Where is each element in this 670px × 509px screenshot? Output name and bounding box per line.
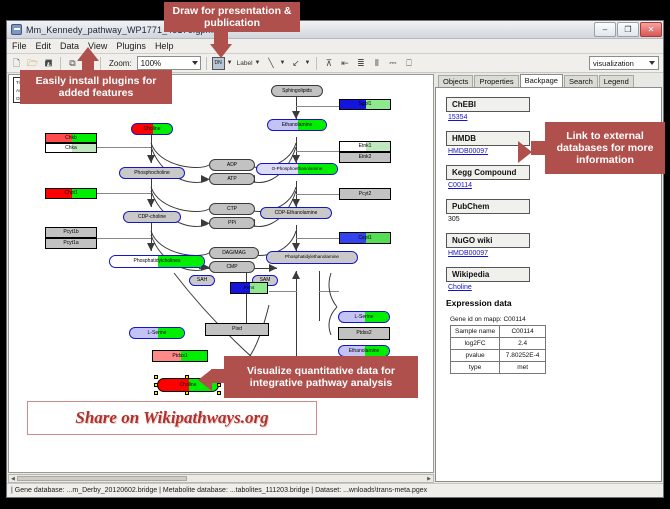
pathway-canvas-wrapper[interactable]: Title: Availa Organi — [8, 74, 434, 473]
tab-search[interactable]: Search — [564, 75, 598, 87]
gene-sgpl1-label: Sgpl1 — [359, 102, 372, 107]
node-ethanolamine-label: Ethanolamine — [282, 123, 313, 128]
tab-properties[interactable]: Properties — [474, 75, 518, 87]
selection-handle-s[interactable] — [185, 391, 189, 395]
expression-data-table: Sample name C00114 log2FC 2.4 pvalue 7.8… — [450, 325, 546, 374]
chevron-down-icon[interactable] — [192, 61, 198, 65]
toolbar-separator-4 — [316, 57, 317, 70]
selection-handle-e[interactable] — [217, 383, 221, 387]
expr-row-label-3: type — [451, 362, 500, 374]
edge-sphingo-ethanolamine — [296, 97, 297, 119]
db-value-wikipedia[interactable]: Choline — [448, 284, 653, 291]
node-o-phosphoethanolamine[interactable]: O-Phosphoethanolamine — [256, 163, 338, 175]
tab-objects[interactable]: Objects — [438, 75, 473, 87]
open-folder-icon[interactable]: 🗁 — [26, 57, 39, 70]
node-ctp[interactable]: CTP — [209, 203, 255, 215]
node-cdp-choline[interactable]: CDP-choline — [123, 211, 181, 223]
db-header-pubchem: PubChem — [446, 199, 530, 214]
gene-sgpl1[interactable]: Sgpl1 — [339, 99, 391, 110]
table-row: log2FC 2.4 — [451, 338, 546, 350]
gene-pemt-label: Pemt — [244, 286, 255, 291]
new-document-icon[interactable]: 🗋 — [10, 57, 23, 70]
toolbar-separator-3 — [206, 57, 207, 70]
node-ethanolamine[interactable]: Ethanolamine — [267, 119, 327, 131]
node-ethanolamine-right-label: Ethanolamine — [349, 349, 380, 354]
node-atp[interactable]: ATP — [209, 173, 255, 185]
menu-help[interactable]: Help — [155, 41, 174, 51]
scrollbar-thumb[interactable] — [17, 476, 187, 481]
expression-data-heading: Expression data — [446, 298, 653, 308]
callout-links-arrow-icon — [518, 141, 532, 163]
node-choline-top-label: Choline — [144, 127, 161, 132]
selection-handle-sw[interactable] — [154, 391, 158, 395]
node-l-serine-left[interactable]: L-Serine — [129, 327, 185, 339]
line-dropdown-icon[interactable]: ▼ — [279, 60, 285, 66]
node-choline-top[interactable]: Choline — [131, 123, 173, 135]
db-value-kegg-compound[interactable]: C00114 — [448, 182, 653, 189]
node-ophospho-label: O-Phosphoethanolamine — [272, 167, 323, 172]
gene-cept1-label: Cept1 — [358, 236, 371, 241]
callout-link-external-databases: Link to external databases for more info… — [545, 122, 665, 174]
interaction-dropdown-icon[interactable]: ▼ — [304, 60, 310, 66]
visualization-value: visualization — [593, 59, 634, 68]
visualization-combo[interactable]: visualization — [589, 56, 659, 70]
datanode-icon[interactable]: DN — [212, 57, 225, 70]
db-header-chebi: ChEBI — [446, 97, 530, 112]
statusbar-text: | Gene database: ...m_Derby_20120602.bri… — [11, 487, 427, 494]
selection-handle-n[interactable] — [185, 375, 189, 379]
toolbar-separator-2 — [100, 57, 101, 70]
zoom-combo[interactable]: 100% — [137, 56, 201, 70]
editor-pane: Title: Availa Organi — [7, 73, 435, 483]
app-icon — [11, 24, 22, 35]
edge-cdpcholine-ptdcholine — [151, 223, 152, 251]
node-lserine-left-label: L-Serine — [148, 331, 167, 336]
menu-edit[interactable]: Edit — [36, 41, 52, 51]
edge-ptdetn-down — [296, 271, 297, 361]
node-ppi[interactable]: PPi — [209, 217, 255, 229]
node-dagmag[interactable]: DAG/MAG — [209, 247, 259, 259]
edge-chk-to-path — [97, 147, 151, 148]
scroll-left-arrow-icon[interactable]: ◀ — [11, 476, 15, 482]
db-value-pubchem: 305 — [448, 216, 653, 223]
gene-pemt[interactable]: Pemt — [230, 282, 268, 294]
gene-chpt1-label: Chpt1 — [64, 191, 77, 196]
line-tool-icon[interactable]: ╲ — [264, 57, 277, 70]
edge-chpt1-to-path — [97, 193, 151, 194]
gene-chpt1[interactable]: Chpt1 — [45, 188, 97, 199]
gene-etnk2[interactable]: Etnk2 — [339, 152, 391, 163]
gene-chkb[interactable]: Chkb — [45, 133, 97, 143]
node-cdp-ethanolamine[interactable]: CDP-Ethanolamine — [260, 207, 332, 219]
db-header-wikipedia: Wikipedia — [446, 267, 530, 282]
common-width-icon[interactable]: ⎓ — [386, 57, 399, 70]
zoom-value: 100% — [141, 59, 161, 68]
distribute-horiz-icon[interactable]: ⫴ — [370, 57, 383, 70]
node-adp[interactable]: ADP — [209, 159, 255, 171]
pathway-canvas[interactable]: Title: Availa Organi — [9, 75, 433, 472]
gene-etnk1-label: Etnk1 — [359, 144, 372, 149]
gene-chka[interactable]: Chka — [45, 143, 97, 153]
zoom-label: Zoom: — [109, 59, 132, 68]
menubar: File Edit Data View Plugins Help — [7, 39, 663, 54]
callout-draw-for-presentation: Draw for presentation & publication — [164, 2, 300, 32]
edge-choline-phosphocholine — [151, 135, 152, 163]
close-button[interactable]: ✕ — [640, 22, 662, 37]
node-phosphocholine[interactable]: Phosphocholine — [119, 167, 185, 179]
gene-ptdss2[interactable]: Ptdss2 — [338, 327, 390, 340]
label-dropdown-icon[interactable]: ▼ — [255, 60, 261, 66]
edge-pisd-link — [269, 291, 297, 292]
node-phosphatidylethanolamine[interactable]: Phosphatidylethanolamine — [266, 251, 358, 264]
gene-id-line: Gene id on mapp: C00114 — [450, 316, 653, 323]
expr-row-value-3: met — [500, 362, 546, 374]
statusbar: | Gene database: ...m_Derby_20120602.bri… — [7, 483, 663, 497]
menu-plugins[interactable]: Plugins — [116, 41, 146, 51]
callout-plugins-arrow-icon — [77, 47, 99, 61]
gene-ptdss1[interactable]: Ptdss1 — [152, 350, 208, 362]
edge-ptdss2-link — [319, 291, 339, 292]
window-buttons: – ❐ ✕ — [594, 22, 663, 37]
node-ptdcholine-label: Phosphatidylcholines — [134, 259, 181, 264]
edge-ptdetn-branch — [319, 271, 320, 321]
gene-cept1[interactable]: Cept1 — [339, 232, 391, 244]
node-ptdetn-label: Phosphatidylethanolamine — [285, 255, 339, 260]
table-row: pvalue 7.80252E-4 — [451, 350, 546, 362]
gene-pisd[interactable]: Pisd — [205, 323, 269, 336]
node-sah[interactable]: SAH — [189, 275, 215, 286]
node-l-serine-right[interactable]: L-Serine — [338, 311, 390, 323]
menu-file[interactable]: File — [12, 41, 27, 51]
datanode-dropdown-icon[interactable]: ▼ — [227, 60, 233, 66]
align-top-icon[interactable]: ⊼ — [322, 57, 335, 70]
minimize-button[interactable]: – — [594, 22, 616, 37]
gene-pcyt2[interactable]: Pcyt2 — [339, 188, 391, 200]
expr-row-value-2: 7.80252E-4 — [500, 350, 546, 362]
callout-draw-arrow-icon — [210, 44, 232, 58]
selection-handle-w[interactable] — [154, 383, 158, 387]
maximize-button[interactable]: ❐ — [617, 22, 639, 37]
canvas-horizontal-scrollbar[interactable]: ◀ ▶ — [8, 474, 434, 483]
tab-legend[interactable]: Legend — [599, 75, 634, 87]
window-titlebar: Mm_Kennedy_pathway_WP1771_45176.gpml – ❐… — [7, 21, 663, 39]
expr-row-label-0: Sample name — [451, 326, 500, 338]
edge-phosphocholine-cdpcholine — [151, 179, 152, 207]
selection-handle-se[interactable] — [217, 391, 221, 395]
interaction-tool-icon[interactable]: ↙ — [289, 57, 302, 70]
expr-row-value-1: 2.4 — [500, 338, 546, 350]
distribute-vert-icon[interactable]: ≣ — [354, 57, 367, 70]
callout-links-stem — [531, 141, 546, 155]
expr-row-value-0: C00114 — [500, 326, 546, 338]
node-choline-selected-label: Choline — [180, 383, 197, 388]
toolbar-separator-1 — [60, 57, 61, 70]
node-lserine-right-label: L-Serine — [355, 315, 374, 320]
expr-row-label-2: pvalue — [451, 350, 500, 362]
tab-backpage[interactable]: Backpage — [520, 74, 563, 87]
gene-chka-label: Chka — [65, 146, 77, 151]
node-phosphatidylcholines[interactable]: Phosphatidylcholines — [109, 255, 205, 268]
gene-pcyt1b[interactable]: Pcyt1b — [45, 227, 97, 238]
gene-chkb-label: Chkb — [65, 136, 77, 141]
table-row: type met — [451, 362, 546, 374]
node-cmp[interactable]: CMP — [209, 261, 255, 273]
chevron-down-icon-visualization[interactable] — [649, 61, 655, 65]
selection-handle-nw[interactable] — [154, 375, 158, 379]
callout-visualize-quantitative-data: Visualize quantitative data for integrat… — [224, 356, 418, 398]
edge-ethanolamine-ophospho — [296, 137, 297, 163]
edge-pemt-column — [246, 271, 247, 329]
gene-pcyt1a[interactable]: Pcyt1a — [45, 238, 97, 249]
common-height-icon[interactable]: ⎕ — [402, 57, 415, 70]
db-value-nugo-wiki[interactable]: HMDB00097 — [448, 250, 653, 257]
node-sphingolipids[interactable]: Sphingolipids — [271, 85, 323, 97]
gene-etnk1[interactable]: Etnk1 — [339, 141, 391, 152]
gene-ptdss1-label: Ptdss1 — [172, 354, 187, 359]
expr-row-label-1: log2FC — [451, 338, 500, 350]
db-header-kegg-compound: Kegg Compound — [446, 165, 530, 180]
db-value-chebi[interactable]: 15354 — [448, 114, 653, 121]
save-icon[interactable]: 🖪 — [42, 57, 55, 70]
callout-share-banner: Share on Wikipathways.org — [27, 401, 317, 435]
edge-pcyt1-to-path — [97, 238, 151, 239]
callout-easily-install-plugins: Easily install plugins for added feature… — [20, 70, 172, 104]
db-header-nugo-wiki: NuGO wiki — [446, 233, 530, 248]
align-left-icon[interactable]: ⇤ — [338, 57, 351, 70]
scroll-right-arrow-icon[interactable]: ▶ — [427, 476, 431, 482]
table-row: Sample name C00114 — [451, 326, 546, 338]
label-tool-label[interactable]: Label — [237, 60, 253, 67]
side-panel-tabs: Objects Properties Backpage Search Legen… — [435, 74, 662, 87]
callout-visualize-arrow-icon — [198, 369, 212, 391]
